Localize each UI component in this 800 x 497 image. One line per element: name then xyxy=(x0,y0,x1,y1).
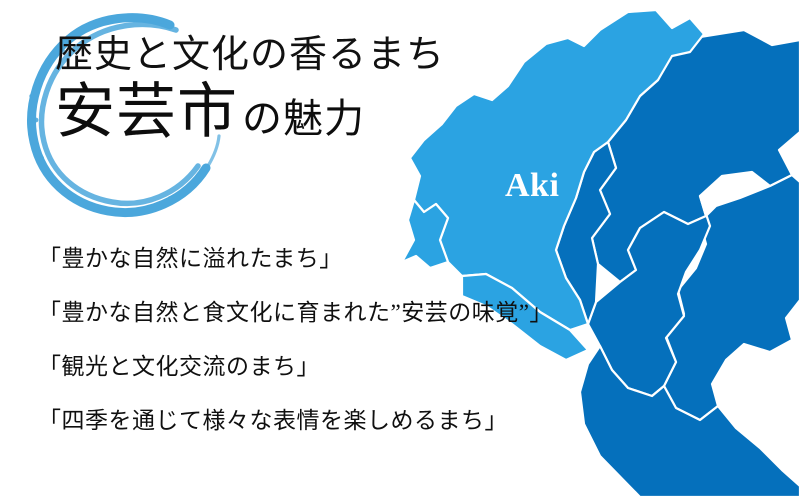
poster-canvas: Aki 歴史と文化の香るまち 安芸市の魅力 「 xyxy=(0,0,800,497)
tagline-item: 「四季を通じて様々な表情を楽しめるまち」 xyxy=(38,409,598,432)
page-title-suffix: の魅力 xyxy=(242,99,365,139)
page-title: 安芸市の魅力 xyxy=(55,82,475,142)
tagline-item: 「豊かな自然と食文化に育まれた”安芸の味覚”」 xyxy=(38,301,598,324)
page-title-main: 安芸市 xyxy=(55,82,238,142)
title-stack: 歴史と文化の香るまち 安芸市の魅力 xyxy=(55,36,475,142)
heading-block: 歴史と文化の香るまち 安芸市の魅力 xyxy=(0,0,470,235)
tagline-item: 「豊かな自然に溢れたまち」 xyxy=(38,247,598,270)
page-subtitle: 歴史と文化の香るまち xyxy=(55,36,475,74)
tagline-item: 「観光と文化交流のまち」 xyxy=(38,355,598,378)
map-label-aki: Aki xyxy=(505,167,559,204)
tagline-list: 「豊かな自然に溢れたまち」 「豊かな自然と食文化に育まれた”安芸の味覚”」 「観… xyxy=(38,247,598,432)
